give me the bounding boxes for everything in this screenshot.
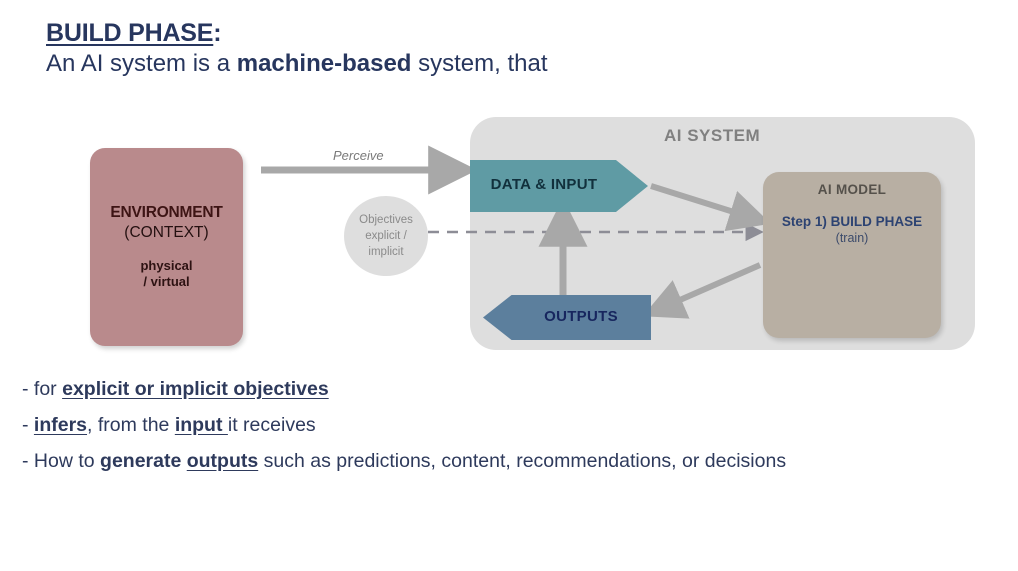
bullet-2-emphasis: infers [34, 414, 87, 436]
data-input-chevron: DATA & INPUT [470, 160, 648, 212]
environment-note: physical / virtual [140, 258, 192, 290]
ai-system-panel-title: AI SYSTEM [664, 126, 760, 146]
bullet-item-2: - infers, from the input it receives [22, 407, 982, 443]
perceive-label: Perceive [333, 148, 384, 163]
bullet-1-plain1: for [34, 378, 62, 400]
bullet-item-1: - for explicit or implicit objectives [22, 371, 982, 407]
bullet-item-3: - How to generate outputs such as predic… [22, 443, 982, 479]
environment-subtitle: (CONTEXT) [124, 224, 208, 242]
bullet-2-marker: - [22, 414, 34, 436]
bullet-3-emphasis: outputs [187, 450, 258, 472]
data-input-label: DATA & INPUT [470, 176, 618, 193]
bullet-2-plain2: , from the [87, 414, 175, 436]
outputs-label: OUTPUTS [511, 308, 651, 325]
objectives-text: Objectives explicit / implicit [359, 212, 413, 260]
ai-model-mode-label: (train) [763, 231, 941, 245]
environment-box: ENVIRONMENT (CONTEXT) physical / virtual [90, 148, 243, 346]
outputs-chevron: OUTPUTS [483, 295, 651, 340]
environment-title: ENVIRONMENT [110, 204, 222, 222]
ai-model-title: AI MODEL [763, 182, 941, 197]
objectives-circle: Objectives explicit / implicit [344, 196, 428, 276]
bullet-3-bold: generate [100, 450, 187, 472]
bullet-1-marker: - [22, 378, 34, 400]
bullet-3-marker: - [22, 450, 34, 472]
ai-model-step-label: Step 1) BUILD PHASE [763, 214, 941, 229]
bullet-list: - for explicit or implicit objectives - … [22, 371, 982, 479]
bullet-3-plain1: How to [34, 450, 100, 472]
bullet-2-emphasis2: input [175, 414, 228, 436]
ai-model-box: AI MODEL Step 1) BUILD PHASE (train) [763, 172, 941, 338]
bullet-1-emphasis: explicit or implicit objectives [62, 378, 329, 400]
bullet-3-plain2: such as predictions, content, recommenda… [258, 450, 786, 472]
bullet-2-plain3: it receives [228, 414, 316, 436]
ai-system-diagram: AI SYSTEM ENVIRONMENT (CONTEXT) physical… [0, 0, 1018, 571]
